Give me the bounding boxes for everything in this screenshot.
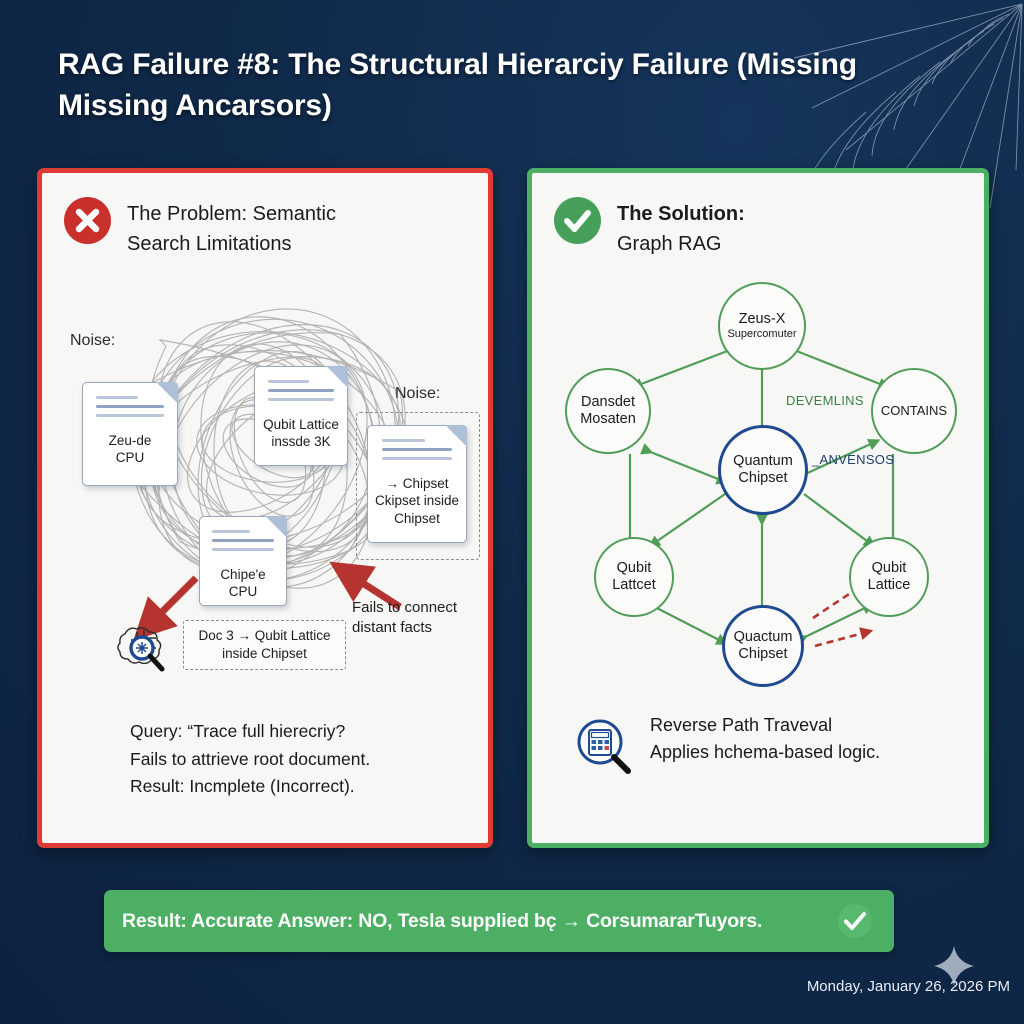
graph-node-contains-line1: CONTAINS [881,403,947,419]
document-card-2[interactable]: Qubit Lattice inssde 3K [254,366,348,466]
graph-node-dansdet-line1: Dansdet [581,394,635,411]
solution-title-line2: Graph RAG [617,230,745,260]
result-banner: Result: Accurate Answer: NO, Tesla suppl… [104,890,894,952]
page-title-line1: RAG Failure #8: The Structural Hierarciy… [58,48,857,81]
noise-label-left: Noise: [70,332,115,350]
page-fold-icon [445,425,467,447]
problem-title-line1: The Problem: Semantic [127,203,336,225]
doc-lines [268,380,334,407]
document-card-1-text: Zeu-de CPU [103,432,158,467]
graph-node-qubitr-line2: Lattice [868,577,911,594]
graph-node-zeus-line2: Supercomuter [727,328,796,341]
graph-node-qubitl-line1: Qubit [617,560,652,577]
check-icon [838,904,872,938]
reverse-path-note: Reverse Path Traveval Applies hchema-bas… [650,712,950,766]
query-line1: Query: “Trace full hierecriy? [130,718,460,746]
query-line3: Result: Incmplete (Incorrect). [130,773,460,801]
fails-line2: distant facts [352,619,432,636]
calculator-search-icon [573,714,635,776]
graph-node-qubitl-line2: Lattcet [612,577,656,594]
document-card-4-text: Chipe'e CPU [214,566,271,601]
timestamp: Monday, January 26, 2026 PM [807,978,1010,995]
graph-node-dansdet-line2: Mosaten [580,411,636,428]
error-cross-icon [64,197,111,244]
solution-panel-header: The Solution: Graph RAG [532,173,984,259]
fails-line1: Fails to connect [352,599,457,616]
graph-node-dansdet[interactable]: Dansdet Mosaten [565,368,651,454]
solution-title-line1: The Solution: [617,203,745,225]
graph-node-quantum2-line1: Quactum [734,629,793,646]
page-fold-icon [326,366,348,388]
doc3-callout: Doc 3 → Qubit Lattice inside Chipset [183,620,346,670]
document-card-1[interactable]: Zeu-de CPU [82,382,178,486]
graph-node-quantum1-line2: Chipset [738,470,787,487]
brain-search-icon [113,612,175,674]
problem-title-line2: Search Limitations [127,230,336,260]
noise-label-right: Noise: [395,385,440,403]
callout-line1: Doc 3 → Qubit Lattice [198,628,330,643]
reverse-path-line2: Applies hchema-based logic. [650,739,950,766]
page-title-line2: Missing Ancarsors) [58,89,332,122]
document-card-3[interactable]: → Chipset Ckipset inside Chipset [367,425,467,543]
page-fold-icon [265,516,287,538]
query-result-block: Query: “Trace full hierecriy? Fails to a… [130,718,460,801]
graph-node-zeus-line1: Zeus-X [739,311,786,328]
page-fold-icon [156,382,178,404]
graph-node-quantum-chipset-2[interactable]: Quactum Chipset [722,605,804,687]
graph-node-contains[interactable]: CONTAINS [871,368,957,454]
graph-node-qubit-lattcet[interactable]: Qubit Lattcet [594,537,674,617]
graph-node-quantum1-line1: Quantum [733,453,793,470]
problem-panel-title: The Problem: Semantic Search Limitations [127,197,336,259]
doc-lines [96,396,164,423]
doc-lines [382,439,453,466]
graph-node-quantum2-line2: Chipset [738,646,787,663]
reverse-path-line1: Reverse Path Traveval [650,712,950,739]
page-title: RAG Failure #8: The Structural Hierarciy… [58,44,958,126]
problem-panel-header: The Problem: Semantic Search Limitations [42,173,488,259]
graph-node-zeus[interactable]: Zeus-X Supercomuter [718,282,806,370]
graph-node-quantum-chipset-1[interactable]: Quantum Chipset [718,425,808,515]
query-line2: Fails to attrieve root document. [130,746,460,774]
success-check-icon [554,197,601,244]
callout-line2: inside Chipset [222,646,307,661]
slide-canvas: RAG Failure #8: The Structural Hierarciy… [0,0,1024,1024]
graph-node-qubit-lattice[interactable]: Qubit Lattice [849,537,929,617]
fails-to-connect-note: Fails to connect distant facts [352,598,477,638]
edge-label-devemlins: DEVEMLINS [786,393,864,408]
edge-label-anvensos: _ANVENSOS [812,452,894,467]
document-card-3-text: → Chipset Ckipset inside Chipset [369,475,465,527]
graph-node-qubitr-line1: Qubit [872,560,907,577]
document-card-2-text: Qubit Lattice inssde 3K [257,416,345,451]
solution-panel-title: The Solution: Graph RAG [617,197,745,259]
result-banner-text: Result: Accurate Answer: NO, Tesla suppl… [122,910,762,933]
document-card-4[interactable]: Chipe'e CPU [199,516,287,606]
